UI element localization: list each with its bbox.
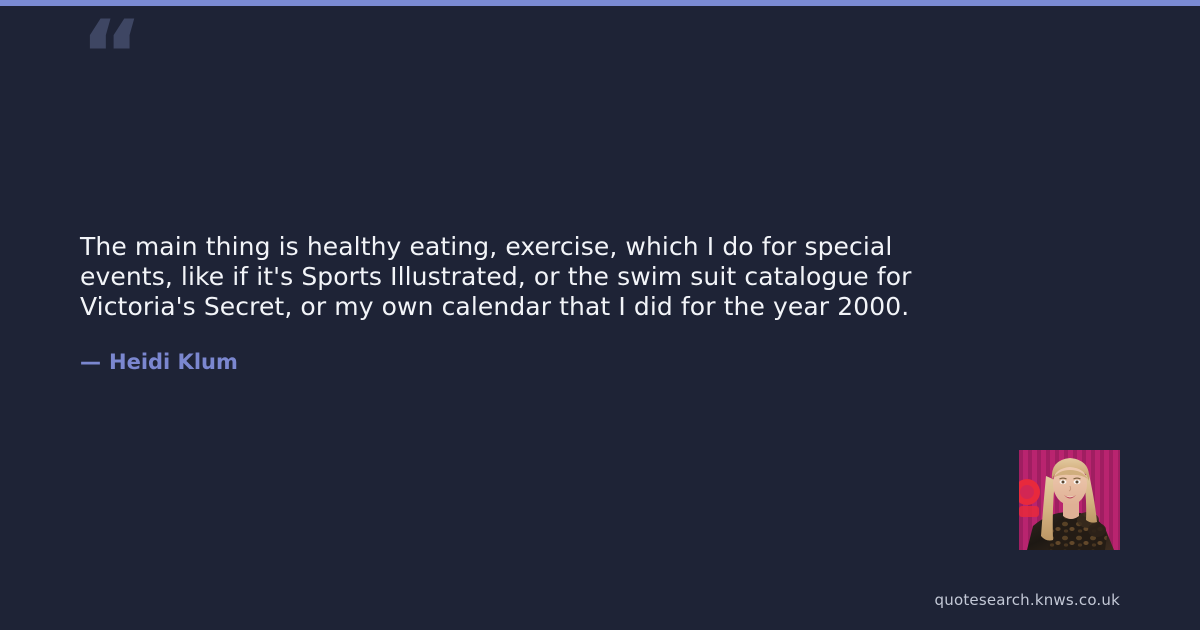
opening-quote-icon: “ xyxy=(80,8,141,104)
backdrop-logo-icon xyxy=(1019,479,1040,517)
quote-text: The main thing is healthy eating, exerci… xyxy=(80,232,980,322)
quote-attribution: —Heidi Klum xyxy=(80,348,238,376)
site-watermark: quotesearch.knws.co.uk xyxy=(935,590,1120,610)
attribution-dash: — xyxy=(80,350,101,374)
top-accent-bar xyxy=(0,0,1200,6)
author-portrait-image xyxy=(1019,450,1120,550)
quote-card: “ The main thing is healthy eating, exer… xyxy=(0,0,1200,630)
attribution-author-name: Heidi Klum xyxy=(109,350,238,374)
author-thumbnail xyxy=(1019,450,1120,550)
